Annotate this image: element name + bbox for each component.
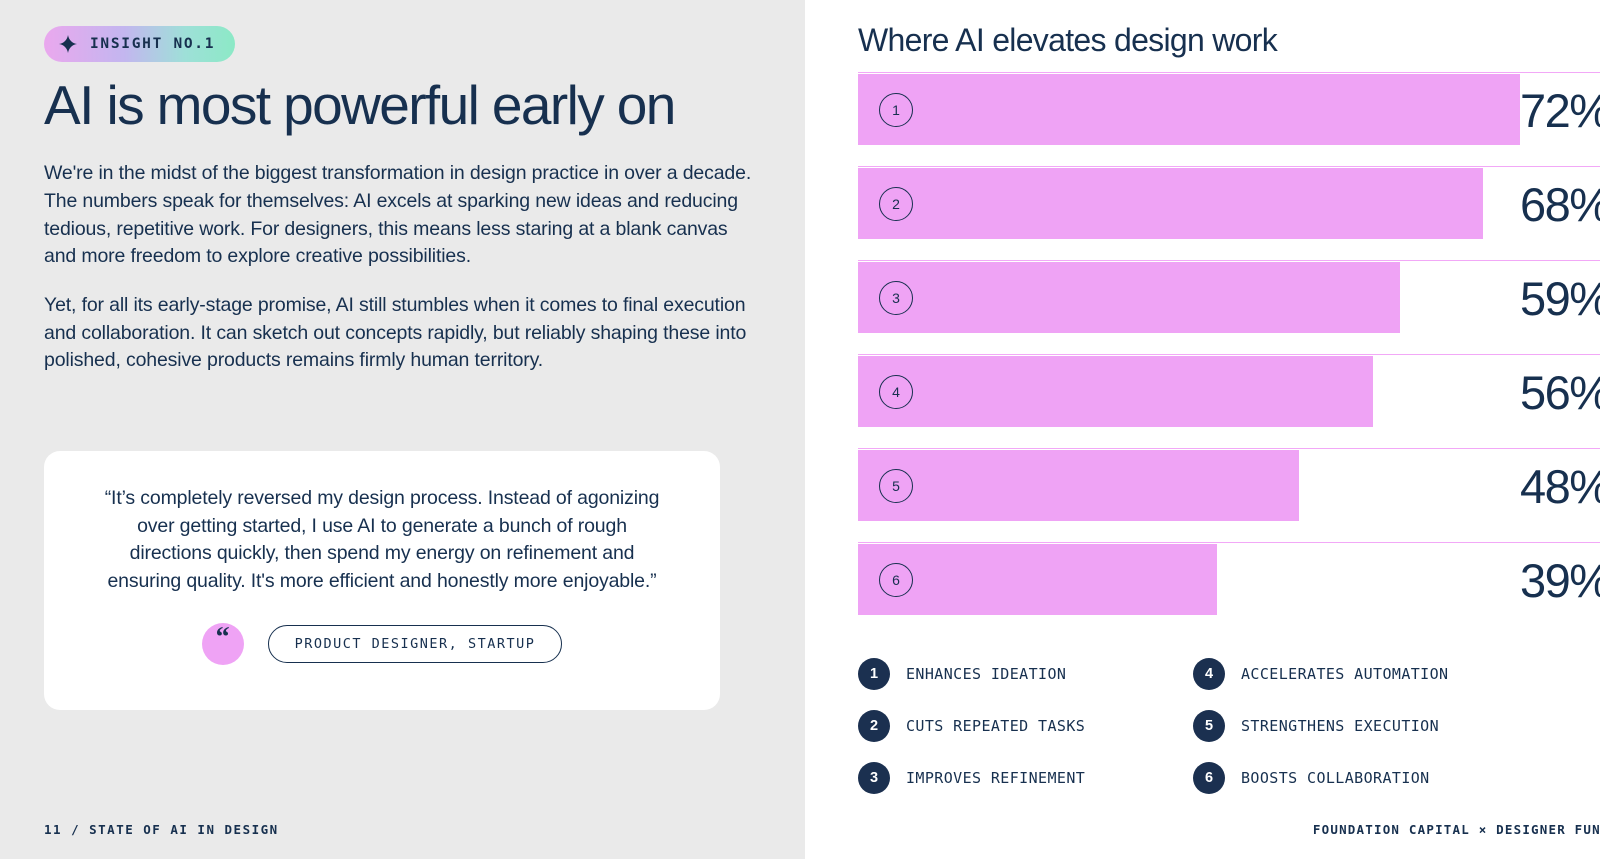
legend-item-3: 3 IMPROVES REFINEMENT (858, 762, 1193, 794)
table-row: 6 39% (858, 542, 1600, 636)
legend-rank-badge: 3 (858, 762, 890, 794)
bar-value-label: 59% (1520, 261, 1600, 322)
right-panel: Where AI elevates design work 1 72% 2 68… (805, 0, 1600, 859)
legend-rank-badge: 2 (858, 710, 890, 742)
footer-left: 11 / STATE OF AI IN DESIGN (44, 822, 279, 837)
bar-value-label: 72% (1520, 73, 1600, 134)
quote-mark-icon: “ (202, 623, 244, 665)
bar-track: 4 (858, 355, 1520, 449)
chart-title: Where AI elevates design work (858, 22, 1600, 59)
table-row: 3 59% (858, 260, 1600, 354)
legend-item-4: 4 ACCELERATES AUTOMATION (1193, 658, 1600, 690)
legend-item-2: 2 CUTS REPEATED TASKS (858, 710, 1193, 742)
chart-legend: 1 ENHANCES IDEATION 4 ACCELERATES AUTOMA… (858, 658, 1600, 794)
quote-text: “It’s completely reversed my design proc… (96, 485, 668, 596)
bar-track: 3 (858, 261, 1520, 355)
quote-meta: “ PRODUCT DESIGNER, STARTUP (96, 623, 668, 665)
bar-track: 5 (858, 449, 1520, 543)
legend-item-6: 6 BOOSTS COLLABORATION (1193, 762, 1600, 794)
insight-badge-label: INSIGHT NO.1 (90, 36, 215, 52)
bar-track: 6 (858, 543, 1520, 637)
bar-fill: 3 (858, 262, 1400, 333)
legend-rank-badge: 5 (1193, 710, 1225, 742)
body-copy: We're in the midst of the biggest transf… (44, 160, 761, 375)
bar-track: 1 (858, 73, 1520, 167)
legend-item-1: 1 ENHANCES IDEATION (858, 658, 1193, 690)
bar-rank-badge: 4 (879, 375, 913, 409)
table-row: 5 48% (858, 448, 1600, 542)
bar-value-label: 39% (1520, 543, 1600, 604)
legend-label: ENHANCES IDEATION (906, 665, 1066, 683)
bar-rank-badge: 2 (879, 187, 913, 221)
legend-label: IMPROVES REFINEMENT (906, 769, 1085, 787)
bar-fill: 1 (858, 74, 1520, 145)
legend-label: BOOSTS COLLABORATION (1241, 769, 1430, 787)
table-row: 1 72% (858, 72, 1600, 166)
page-title: AI is most powerful early on (44, 76, 761, 134)
legend-label: STRENGTHENS EXECUTION (1241, 717, 1439, 735)
quote-card: “It’s completely reversed my design proc… (44, 451, 720, 710)
table-row: 4 56% (858, 354, 1600, 448)
quote-attribution: PRODUCT DESIGNER, STARTUP (268, 625, 563, 663)
sparkle-icon (59, 35, 77, 53)
bar-fill: 2 (858, 168, 1483, 239)
bar-rank-badge: 3 (879, 281, 913, 315)
bar-track: 2 (858, 167, 1520, 261)
bar-rank-badge: 1 (879, 93, 913, 127)
legend-rank-badge: 6 (1193, 762, 1225, 794)
bar-value-label: 68% (1520, 167, 1600, 228)
table-row: 2 68% (858, 166, 1600, 260)
bar-chart: 1 72% 2 68% 3 59% (858, 72, 1600, 636)
legend-item-5: 5 STRENGTHENS EXECUTION (1193, 710, 1600, 742)
legend-rank-badge: 1 (858, 658, 890, 690)
legend-label: ACCELERATES AUTOMATION (1241, 665, 1448, 683)
legend-label: CUTS REPEATED TASKS (906, 717, 1085, 735)
bar-rank-badge: 5 (879, 469, 913, 503)
bar-rank-badge: 6 (879, 563, 913, 597)
legend-rank-badge: 4 (1193, 658, 1225, 690)
bar-fill: 6 (858, 544, 1217, 615)
paragraph-1: We're in the midst of the biggest transf… (44, 160, 761, 271)
bar-fill: 5 (858, 450, 1299, 521)
paragraph-2: Yet, for all its early-stage promise, AI… (44, 292, 761, 375)
slide-root: INSIGHT NO.1 AI is most powerful early o… (0, 0, 1600, 859)
insight-badge: INSIGHT NO.1 (44, 26, 235, 62)
left-panel: INSIGHT NO.1 AI is most powerful early o… (0, 0, 805, 859)
bar-value-label: 56% (1520, 355, 1600, 416)
bar-fill: 4 (858, 356, 1373, 427)
bar-value-label: 48% (1520, 449, 1600, 510)
footer-right: FOUNDATION CAPITAL × DESIGNER FUND (1313, 822, 1600, 837)
